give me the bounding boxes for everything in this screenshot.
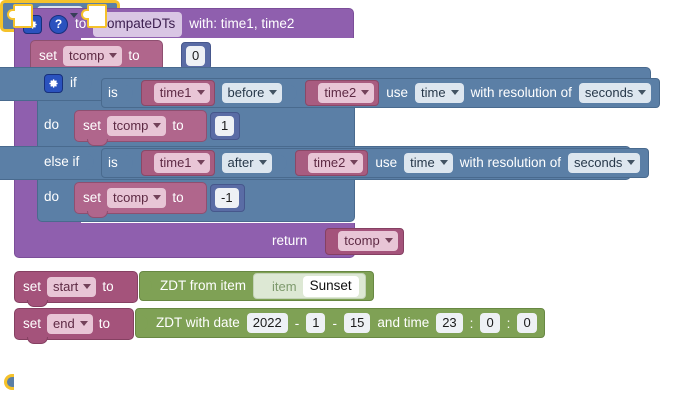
chevron-down-icon <box>451 90 459 95</box>
variable-get-block-time1[interactable]: time1 <box>141 80 215 106</box>
chevron-down-icon <box>440 160 448 165</box>
comparison-operator-dropdown-1[interactable]: before <box>222 83 283 103</box>
do-label-1: do <box>44 117 59 132</box>
if-condition-socket <box>84 73 93 93</box>
variable-name: time1 <box>160 86 192 99</box>
use-part-dropdown-2[interactable]: time <box>404 153 453 173</box>
right-operand-socket <box>289 83 298 103</box>
month-field[interactable]: 1 <box>306 313 325 333</box>
to-label: to <box>172 191 183 205</box>
variable-name: end <box>53 317 75 330</box>
do-label-2: do <box>44 189 59 204</box>
variable-get-block-time2[interactable]: time2 <box>295 150 369 176</box>
to-label: to <box>102 280 113 294</box>
chevron-down-icon <box>638 90 646 95</box>
use-label: use <box>375 156 397 170</box>
variable-dropdown-time2[interactable]: time2 <box>318 83 374 103</box>
value-socket <box>120 277 129 297</box>
chevron-down-icon <box>153 195 161 200</box>
use-value: time <box>421 86 446 99</box>
chevron-down-icon <box>627 160 635 165</box>
variable-get-block-time2[interactable]: time2 <box>305 80 379 106</box>
chevron-down-icon <box>109 53 117 58</box>
variable-name: tcomp <box>113 119 148 132</box>
variable-get-block-tcomp-return[interactable]: tcomp <box>325 228 403 255</box>
operator-value: after <box>228 156 254 169</box>
variable-name: time1 <box>160 156 192 169</box>
left-operand-socket[interactable] <box>13 4 33 28</box>
left-plug <box>299 153 308 173</box>
help-icon[interactable]: ? <box>49 15 68 34</box>
variable-name: tcomp <box>69 49 104 62</box>
left-plug <box>329 231 338 251</box>
time-separator: : <box>470 316 474 331</box>
chevron-down-icon <box>350 160 358 165</box>
zdt-with-date-label: ZDT with date <box>156 316 240 330</box>
time-separator: : <box>507 316 511 331</box>
datetime-compare-block-2[interactable]: is time1 after time2 use time with resol… <box>101 148 649 178</box>
variable-dropdown-tcomp[interactable]: tcomp <box>107 116 166 136</box>
hour-field[interactable]: 23 <box>436 313 462 333</box>
left-operand-socket <box>125 153 134 173</box>
variable-name: start <box>53 280 78 293</box>
elseif-label: else if <box>44 155 79 169</box>
procedure-definition-header[interactable]: ? to compateDTs with: time1, time2 <box>14 8 354 38</box>
resolution-dropdown-2[interactable]: seconds <box>568 153 640 173</box>
set-variable-block-tcomp-1[interactable]: set tcomp to <box>74 110 207 142</box>
day-field[interactable]: 15 <box>344 313 370 333</box>
block-connector <box>27 300 48 307</box>
set-variable-block-start[interactable]: set start to <box>14 271 138 303</box>
chevron-down-icon <box>385 238 393 243</box>
if-label: if <box>70 76 77 90</box>
zdt-from-item-label: ZDT from item <box>160 279 246 293</box>
year-field[interactable]: 2022 <box>247 313 288 333</box>
chevron-down-icon <box>361 90 369 95</box>
left-plug <box>144 276 153 296</box>
chevron-down-icon <box>269 90 277 95</box>
and-time-label: and time <box>377 316 429 330</box>
block-connector <box>27 337 48 344</box>
chevron-down-icon <box>197 90 205 95</box>
resolution-label: with resolution of <box>460 156 561 170</box>
left-operand-socket <box>125 83 134 103</box>
number-block-0[interactable]: 0 <box>181 42 211 70</box>
left-plug <box>145 83 154 103</box>
set-label: set <box>23 317 41 331</box>
set-label: set <box>83 119 101 133</box>
item-label: item <box>272 279 297 294</box>
left-plug <box>309 83 318 103</box>
variable-dropdown-time1[interactable]: time1 <box>154 83 210 103</box>
number-block-minus1[interactable]: -1 <box>210 184 245 212</box>
variable-get-block-time1[interactable]: time1 <box>141 150 215 176</box>
procedure-params-label: with: time1, time2 <box>189 17 294 31</box>
to-label: to <box>172 119 183 133</box>
number-field[interactable]: -1 <box>215 188 239 208</box>
date-separator: - <box>295 316 300 331</box>
set-label: set <box>83 191 101 205</box>
set-variable-block-tcomp-2[interactable]: set tcomp to <box>74 182 207 214</box>
resolution-value: seconds <box>574 156 622 169</box>
left-plug <box>145 153 154 173</box>
resolution-value: seconds <box>585 86 633 99</box>
set-variable-block-end[interactable]: set end to <box>14 308 134 340</box>
date-separator: - <box>332 316 337 331</box>
value-socket <box>116 314 125 334</box>
set-label: set <box>23 280 41 294</box>
operator-value: before <box>228 86 265 99</box>
right-operand-socket[interactable] <box>87 4 107 28</box>
is-label: is <box>108 156 118 170</box>
chevron-down-icon <box>197 160 205 165</box>
resolution-dropdown-1[interactable]: seconds <box>579 83 651 103</box>
zdt-with-date-block[interactable]: ZDT with date 2022 - 1 - 15 and time 23 … <box>135 308 545 338</box>
chevron-down-icon <box>83 284 91 289</box>
variable-name: tcomp <box>113 191 148 204</box>
right-operand-socket <box>279 153 288 173</box>
procedure-header-row: ? to compateDTs with: time1, time2 <box>23 9 294 39</box>
variable-dropdown-time1[interactable]: time1 <box>154 153 210 173</box>
value-socket <box>190 116 199 136</box>
variable-dropdown-start[interactable]: start <box>47 277 96 297</box>
minute-field[interactable]: 0 <box>480 313 499 333</box>
procedure-return-row: return tcomp <box>272 228 404 254</box>
if-branch-1-row: if <box>44 67 93 99</box>
chevron-down-icon <box>70 13 78 18</box>
number-field[interactable]: 0 <box>186 46 205 66</box>
datetime-compare-block-1[interactable]: is time1 before time2 use time with reso… <box>101 78 660 108</box>
return-value-socket <box>312 231 320 251</box>
gear-icon[interactable] <box>44 74 63 93</box>
number-field[interactable]: 1 <box>215 116 234 136</box>
variable-dropdown-tcomp[interactable]: tcomp <box>338 231 397 251</box>
to-label: to <box>128 49 139 63</box>
variable-name: tcomp <box>344 234 379 247</box>
item-block-sunset[interactable]: item Sunset <box>253 273 366 299</box>
item-name-field[interactable]: Sunset <box>303 276 359 297</box>
is-label: is <box>108 86 118 100</box>
left-plug <box>257 276 266 296</box>
value-socket <box>146 46 155 66</box>
use-value: time <box>410 156 435 169</box>
if-branch-2-row: else if <box>44 146 95 178</box>
to-label: to <box>99 317 110 331</box>
comparison-operator-dropdown-2[interactable]: after <box>222 153 272 173</box>
chevron-down-icon <box>153 123 161 128</box>
variable-dropdown-time2[interactable]: time2 <box>308 153 364 173</box>
variable-dropdown-tcomp[interactable]: tcomp <box>107 188 166 208</box>
chevron-down-icon <box>259 160 267 165</box>
use-label: use <box>386 86 408 100</box>
variable-dropdown-tcomp[interactable]: tcomp <box>63 46 122 66</box>
use-part-dropdown-1[interactable]: time <box>415 83 464 103</box>
value-socket <box>190 188 199 208</box>
variable-name: time2 <box>324 86 356 99</box>
variable-name: time2 <box>314 156 346 169</box>
variable-dropdown-end[interactable]: end <box>47 314 93 334</box>
and-block-left-plug <box>4 374 14 390</box>
number-block-1[interactable]: 1 <box>210 112 240 140</box>
elseif-condition-socket <box>86 152 95 172</box>
left-plug <box>140 313 149 333</box>
zdt-from-item-block[interactable]: ZDT from item item Sunset <box>139 271 374 301</box>
return-label: return <box>272 234 307 248</box>
second-field[interactable]: 0 <box>517 313 536 333</box>
chevron-down-icon <box>80 321 88 326</box>
resolution-label: with resolution of <box>471 86 572 100</box>
set-label: set <box>39 49 57 63</box>
